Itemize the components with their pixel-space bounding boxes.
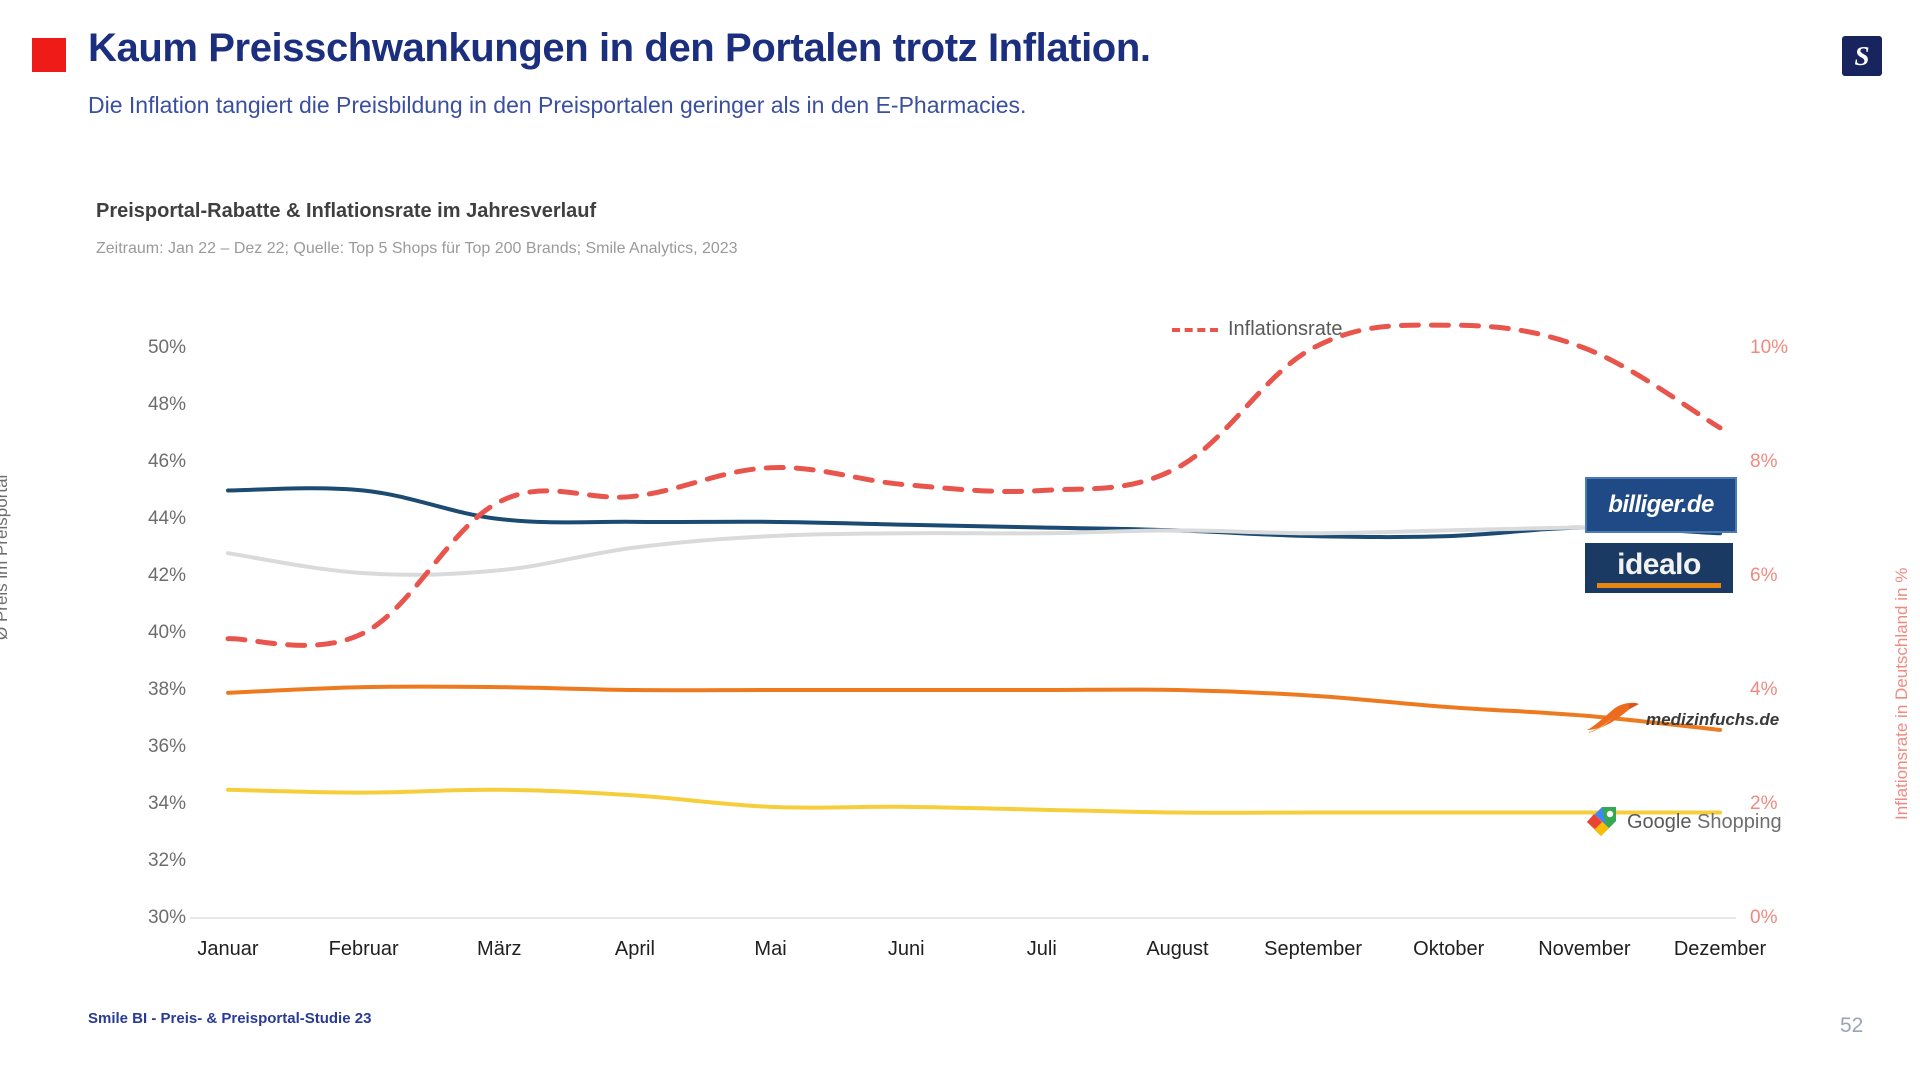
y-tick-left-32%: 32%: [100, 850, 186, 872]
x-tick-juni: Juni: [888, 938, 925, 961]
fox-icon: [1585, 700, 1641, 740]
x-tick-februar: Februar: [329, 938, 399, 961]
x-tick-juli: Juli: [1027, 938, 1057, 961]
x-tick-september: September: [1264, 938, 1362, 961]
y-tick-left-42%: 42%: [100, 565, 186, 587]
x-tick-märz: März: [477, 938, 521, 961]
y-tick-right-4%: 4%: [1750, 679, 1820, 701]
title-bullet-square: [32, 38, 66, 72]
y-tick-left-38%: 38%: [100, 679, 186, 701]
y-axis-right-title: Inflationsrate in Deutschland in %: [1892, 568, 1912, 820]
series-line-google-shopping: [228, 790, 1720, 813]
shopping-word: Shopping: [1692, 811, 1782, 833]
chart-title: Preisportal-Rabatte & Inflationsrate im …: [96, 200, 596, 223]
y-tick-right-0%: 0%: [1750, 907, 1820, 929]
y-tick-left-36%: 36%: [100, 736, 186, 758]
y-tick-left-34%: 34%: [100, 793, 186, 815]
idealo-underline-bar: [1597, 583, 1721, 588]
x-tick-august: August: [1146, 938, 1208, 961]
series-line-idealo: [228, 527, 1720, 574]
x-tick-april: April: [615, 938, 655, 961]
google-shopping-tag-icon: [1585, 805, 1619, 839]
page-title: Kaum Preisschwankungen in den Portalen t…: [88, 26, 1151, 71]
series-line-medizinfuchs-de: [228, 687, 1720, 730]
y-tick-left-44%: 44%: [100, 508, 186, 530]
smile-brand-logo: S: [1842, 36, 1882, 76]
y-tick-left-48%: 48%: [100, 394, 186, 416]
series-logo-google-label: Google Shopping: [1627, 811, 1782, 834]
chart-legend: Inflationsrate: [1172, 318, 1343, 341]
x-tick-dezember: Dezember: [1674, 938, 1766, 961]
footer-note: Smile BI - Preis- & Preisportal-Studie 2…: [88, 1010, 371, 1027]
x-tick-oktober: Oktober: [1413, 938, 1484, 961]
y-tick-right-8%: 8%: [1750, 451, 1820, 473]
series-logo-google-shopping: Google Shopping: [1585, 805, 1782, 839]
legend-label-inflationsrate: Inflationsrate: [1228, 318, 1343, 341]
google-word: Google: [1627, 811, 1692, 833]
y-tick-left-46%: 46%: [100, 451, 186, 473]
y-tick-left-30%: 30%: [100, 907, 186, 929]
series-logo-billiger-label: billiger.de: [1608, 491, 1713, 519]
chart-plot-area: [0, 0, 1920, 1080]
y-tick-left-40%: 40%: [100, 622, 186, 644]
x-tick-januar: Januar: [197, 938, 258, 961]
y-tick-left-50%: 50%: [100, 337, 186, 359]
series-logo-billiger-de: billiger.de: [1585, 477, 1737, 533]
page-number: 52: [1840, 1014, 1863, 1038]
series-logo-idealo-label: idealo: [1617, 549, 1701, 581]
page-subtitle: Die Inflation tangiert die Preisbildung …: [88, 92, 1026, 119]
series-line-billiger-de: [228, 488, 1720, 537]
y-tick-right-10%: 10%: [1750, 337, 1820, 359]
legend-dash-swatch-inflationsrate: [1172, 328, 1218, 332]
series-logo-medizinfuchs-de: medizinfuchs.de: [1585, 700, 1779, 740]
series-logo-idealo: idealo: [1585, 543, 1733, 593]
y-tick-right-6%: 6%: [1750, 565, 1820, 587]
y-axis-left-title: Ø Preis im Preisportal: [0, 475, 12, 640]
x-tick-mai: Mai: [754, 938, 786, 961]
chart-source-note: Zeitraum: Jan 22 – Dez 22; Quelle: Top 5…: [96, 240, 738, 258]
series-line-inflationsrate: [228, 325, 1720, 645]
series-logo-medizinfuchs-label: medizinfuchs.de: [1646, 710, 1779, 730]
x-tick-november: November: [1538, 938, 1630, 961]
